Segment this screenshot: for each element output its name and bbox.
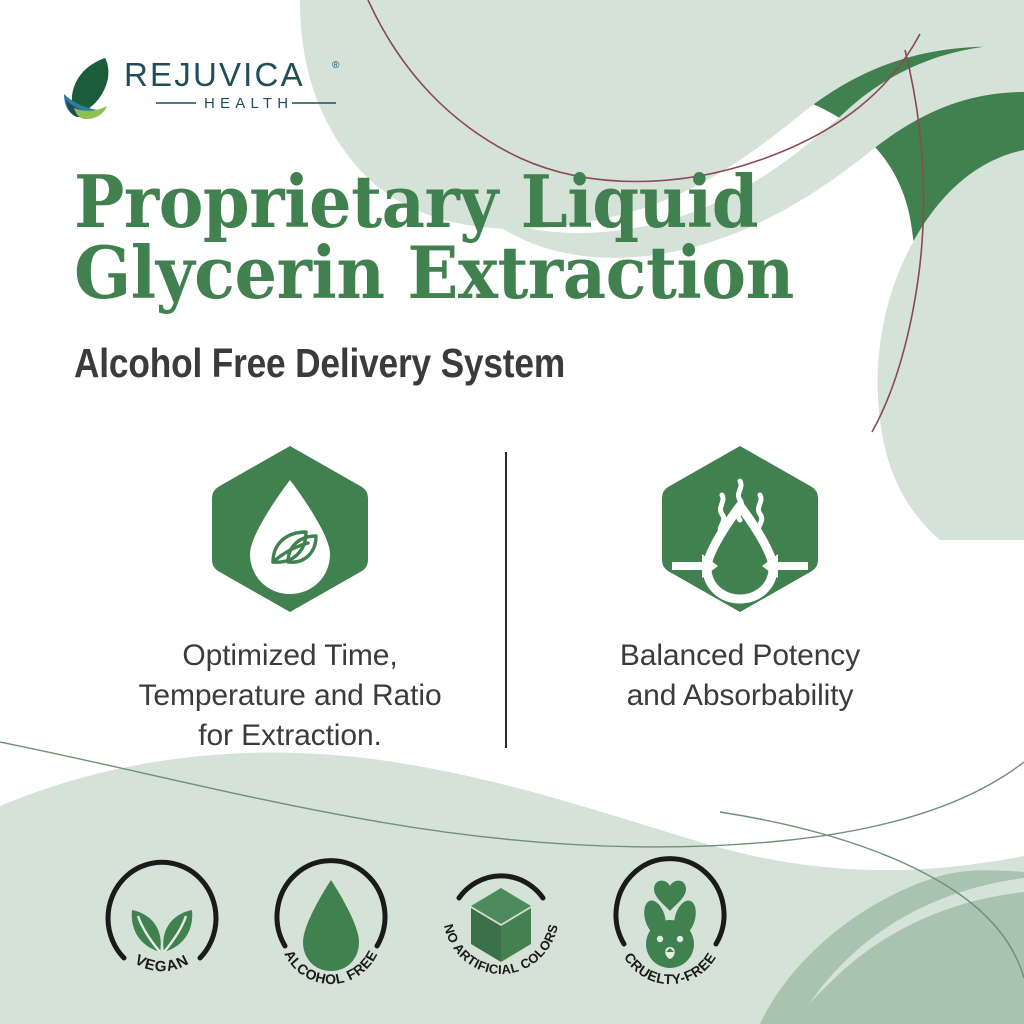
- rabbit-heart-icon: [640, 881, 699, 968]
- cube-icon: [471, 888, 531, 962]
- maroon-curve-right: [872, 50, 924, 432]
- brand-logo[interactable]: REJUVICA ® HEALTH: [62, 52, 352, 128]
- droplet-icon: [303, 880, 359, 971]
- leaf-swoosh-logomark: [62, 56, 124, 120]
- brand-name-text: REJUVICA: [124, 56, 305, 93]
- page-subtitle: Alcohol Free Delivery System: [74, 340, 796, 387]
- bottom-right-mid-sage-blob: [792, 892, 1024, 1024]
- badge-vegan: VEGAN: [96, 852, 228, 990]
- droplet-steam-arrows-hexagon-icon: [660, 444, 820, 614]
- badge-no-artificial-colors: NO ARTIFICIAL COLORS: [435, 852, 567, 990]
- rabbit-eye-right: [677, 936, 683, 942]
- feature-item-optimized-extraction: Optimized Time, Temperature and Ratio fo…: [55, 444, 525, 756]
- droplet-leaf-hexagon-icon: [210, 444, 370, 614]
- brand-wordmark: REJUVICA ® HEALTH: [124, 52, 354, 124]
- feature-caption: Balanced Potency and Absorbability: [620, 636, 860, 716]
- two-leaves-icon: [132, 910, 193, 952]
- badge-ring-arc: [108, 862, 216, 958]
- feature-caption: Optimized Time, Temperature and Ratio fo…: [138, 636, 441, 756]
- bottom-right-mid-sage-blob-2: [760, 870, 1024, 1024]
- maroon-curve-top: [368, 0, 920, 182]
- feature-row: Optimized Time, Temperature and Ratio fo…: [0, 444, 1024, 754]
- feature-item-balanced-potency: Balanced Potency and Absorbability: [505, 444, 975, 716]
- green-curve-bottom-2: [720, 812, 1024, 978]
- badge-cruelty-free: CRUELTY-FREE: [604, 852, 736, 990]
- registered-mark: ®: [332, 60, 340, 71]
- page-title: Proprietary Liquid Glycerin Extraction: [74, 166, 855, 309]
- green-curve-bottom: [0, 742, 1024, 847]
- hexagon-shape: [662, 446, 818, 612]
- infographic-canvas: REJUVICA ® HEALTH Proprietary Liquid Gly…: [0, 0, 1024, 1024]
- certification-badge-row: VEGAN ALCOHOL FREE: [96, 852, 736, 992]
- rabbit-eye-left: [657, 936, 663, 942]
- badge-alcohol-free: ALCOHOL FREE: [265, 852, 397, 990]
- badge-label: VEGAN: [132, 951, 192, 975]
- brand-sub-text: HEALTH: [204, 95, 293, 112]
